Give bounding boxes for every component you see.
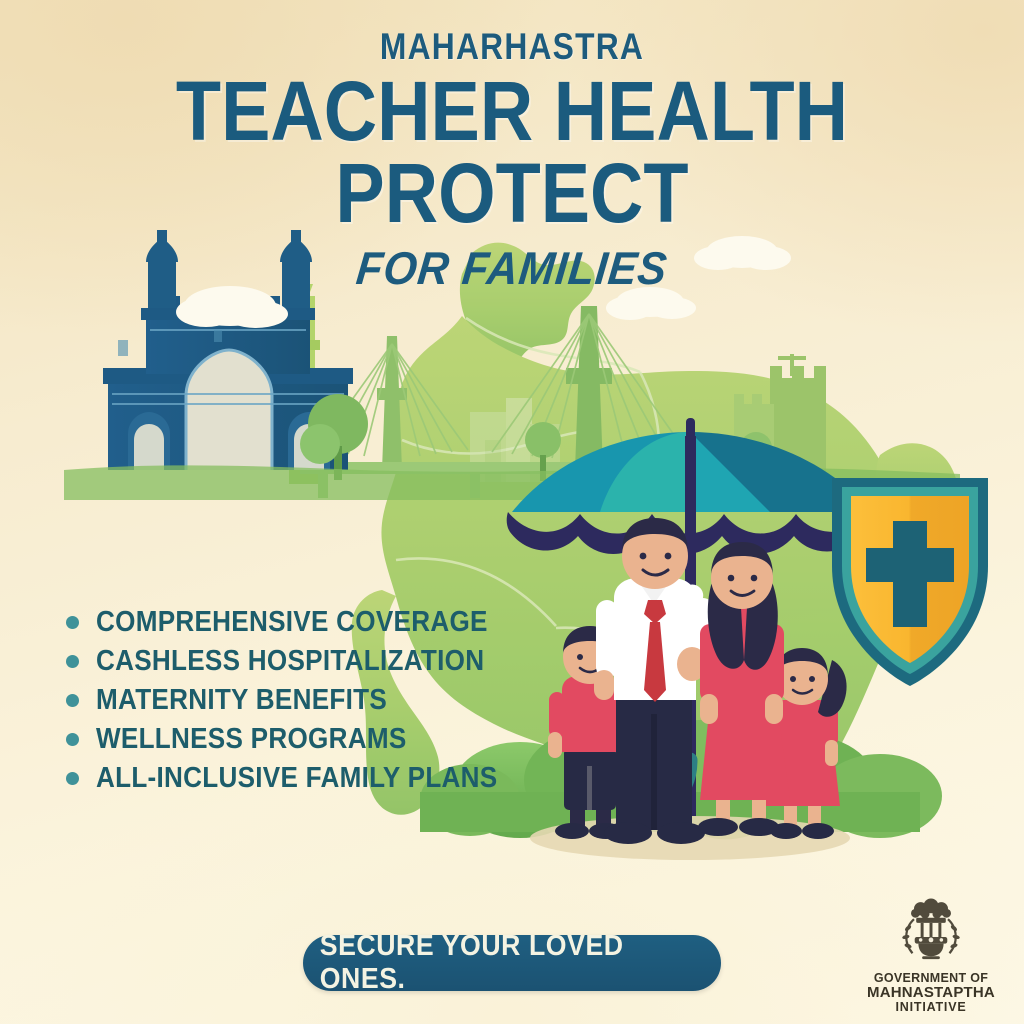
benefit-label: ALL-INCLUSIVE FAMILY PLANS [96,762,497,795]
cta-button[interactable]: SECURE YOUR LOVED ONES. [303,935,721,991]
bullet-dot-icon [66,655,79,668]
cta-label: SECURE YOUR LOVED ONES. [320,930,705,996]
page-subtitle: FOR FAMILIES [33,241,991,295]
government-badge: GOVERNMENT OF MAHNASTAPTHA INITIATIVE [856,897,1006,1014]
list-item: MATERNITY BENEFITS [66,682,542,718]
list-item: WELLNESS PROGRAMS [66,721,542,757]
bullet-dot-icon [66,694,79,707]
poster-header: MAHARHASTRA TEACHER HEALTH PROTECT FOR F… [0,0,1024,295]
bullet-dot-icon [66,733,79,746]
kicker-text: MAHARHASTRA [72,26,953,68]
gov-line-1: GOVERNMENT OF [856,972,1006,985]
list-item: ALL-INCLUSIVE FAMILY PLANS [66,760,542,796]
bullet-dot-icon [66,616,79,629]
bullet-dot-icon [66,772,79,785]
list-item: CASHLESS HOSPITALIZATION [66,643,542,679]
ashoka-lion-capital-emblem [894,897,968,971]
benefit-label: CASHLESS HOSPITALIZATION [96,645,484,678]
benefits-list: COMPREHENSIVE COVERAGE CASHLESS HOSPITAL… [66,604,542,799]
page-title: TEACHER HEALTH PROTECT [61,70,962,235]
benefit-label: MATERNITY BENEFITS [96,684,387,717]
gov-line-2: MAHNASTAPTHA [856,985,1006,1001]
poster-canvas: MAHARHASTRA TEACHER HEALTH PROTECT FOR F… [0,0,1024,1024]
government-badge-text: GOVERNMENT OF MAHNASTAPTHA INITIATIVE [856,972,1006,1014]
benefit-label: COMPREHENSIVE COVERAGE [96,606,488,639]
list-item: COMPREHENSIVE COVERAGE [66,604,542,640]
gov-line-3: INITIATIVE [856,1001,1006,1014]
benefit-label: WELLNESS PROGRAMS [96,723,407,756]
